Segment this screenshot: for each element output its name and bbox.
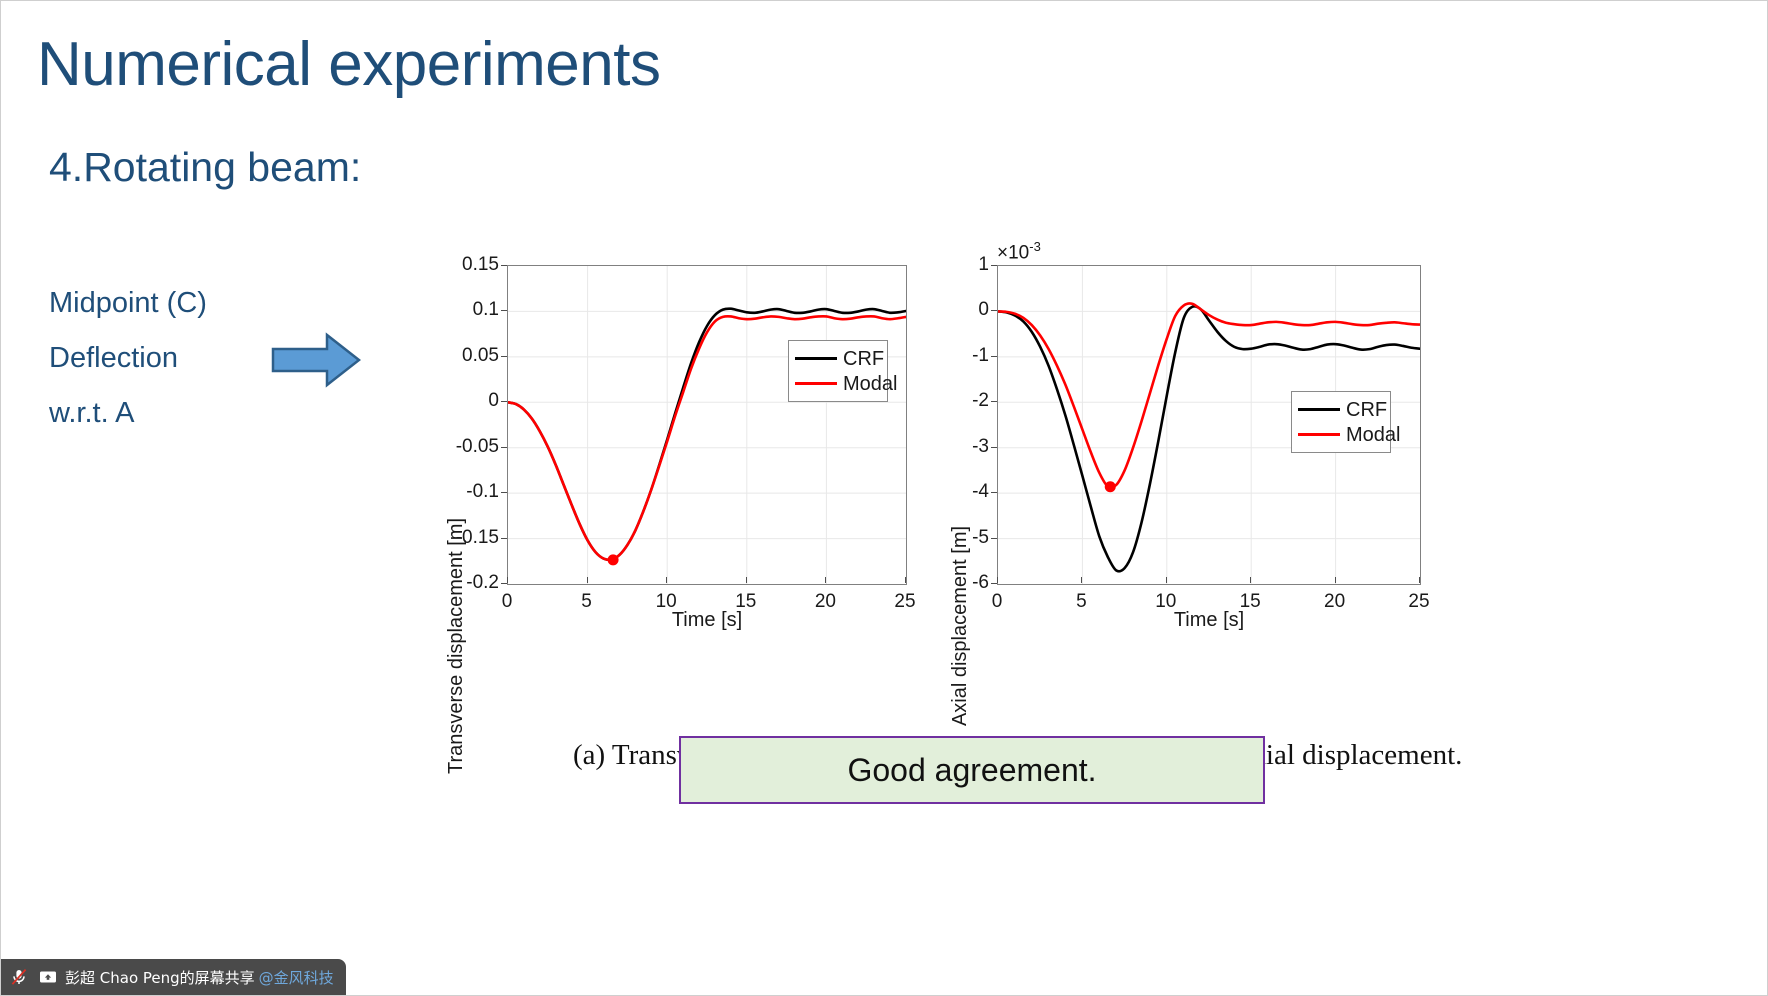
y-tick-label: 0 (437, 390, 499, 412)
chart-b-y-axis-label: Axial displacement [m] (949, 471, 972, 781)
x-tick-label: 20 (805, 591, 845, 613)
x-tick-label: 10 (1146, 591, 1186, 613)
right-arrow-icon (271, 331, 361, 389)
y-tick-mark (991, 447, 997, 448)
chart-a-canvas (508, 266, 906, 584)
legend-item-crf: CRF (795, 346, 879, 371)
legend-label-crf: CRF (843, 349, 884, 369)
x-tick-mark (825, 577, 826, 583)
page-title: Numerical experiments (37, 29, 661, 100)
x-tick-label: 15 (1230, 591, 1270, 613)
legend-item-crf: CRF (1298, 397, 1382, 422)
x-tick-mark (1335, 577, 1336, 583)
y-tick-label: -1 (927, 345, 989, 367)
x-tick-label: 25 (1399, 591, 1439, 613)
y-tick-mark (991, 401, 997, 402)
y-tick-label: 1 (927, 254, 989, 276)
x-tick-mark (666, 577, 667, 583)
x-tick-label: 0 (977, 591, 1017, 613)
legend-swatch-modal (1298, 433, 1340, 436)
y-tick-mark (501, 538, 507, 539)
legend-label-crf: CRF (1346, 400, 1387, 420)
legend-label-modal: Modal (1346, 425, 1400, 445)
legend-label-modal: Modal (843, 374, 897, 394)
x-tick-label: 20 (1315, 591, 1355, 613)
y-tick-label: 0 (927, 299, 989, 321)
y-tick-mark (991, 538, 997, 539)
x-tick-mark (746, 577, 747, 583)
share-owner-label: 彭超 Chao Peng的屏幕共享 (65, 967, 255, 988)
y-tick-mark (991, 492, 997, 493)
x-tick-mark (507, 577, 508, 583)
x-tick-label: 10 (646, 591, 686, 613)
screen-share-icon[interactable] (36, 965, 60, 989)
legend-item-modal: Modal (795, 371, 879, 396)
y-tick-label: -4 (927, 481, 989, 503)
callout-text: Good agreement. (847, 752, 1096, 789)
chart-transverse-displacement: Transverse displacement [m] Time [s] 0.1… (431, 251, 931, 651)
legend-swatch-crf (1298, 408, 1340, 411)
y-tick-mark (501, 356, 507, 357)
presentation-slide: Numerical experiments 4.Rotating beam: M… (0, 0, 1768, 996)
x-tick-label: 5 (1061, 591, 1101, 613)
y-tick-mark (991, 310, 997, 311)
x-tick-label: 0 (487, 591, 527, 613)
microphone-muted-icon[interactable] (7, 965, 31, 989)
x-tick-mark (1081, 577, 1082, 583)
x-tick-mark (997, 577, 998, 583)
x-tick-label: 5 (567, 591, 607, 613)
legend-swatch-modal (795, 382, 837, 385)
x-tick-mark (1250, 577, 1251, 583)
y-tick-mark (501, 583, 507, 584)
x-tick-mark (1166, 577, 1167, 583)
y-tick-label: 0.1 (437, 299, 499, 321)
section-subtitle: 4.Rotating beam: (49, 144, 361, 191)
y-tick-mark (501, 492, 507, 493)
chart-b-legend: CRF Modal (1291, 391, 1391, 453)
chart-a-legend: CRF Modal (788, 340, 888, 402)
x-tick-mark (905, 577, 906, 583)
legend-item-modal: Modal (1298, 422, 1382, 447)
y-tick-mark (501, 447, 507, 448)
y-tick-label: -3 (927, 436, 989, 458)
y-tick-mark (501, 265, 507, 266)
x-tick-label: 25 (885, 591, 925, 613)
bullet-midpoint: Midpoint (C) (49, 287, 207, 320)
bullet-deflection: Deflection (49, 342, 178, 375)
y-tick-mark (991, 583, 997, 584)
y-tick-mark (501, 310, 507, 311)
x-tick-mark (1419, 577, 1420, 583)
y-tick-label: 0.15 (437, 254, 499, 276)
screen-share-taskbar[interactable]: 彭超 Chao Peng的屏幕共享 @金风科技 (1, 959, 346, 995)
y-tick-mark (501, 401, 507, 402)
y-tick-label: -5 (927, 527, 989, 549)
x-tick-mark (587, 577, 588, 583)
y-tick-label: -0.1 (437, 481, 499, 503)
chart-b-y-exponent: ×10-3 (997, 239, 1041, 264)
y-tick-label: -0.05 (437, 436, 499, 458)
share-org-label: @金风科技 (259, 967, 334, 988)
y-tick-mark (991, 265, 997, 266)
y-tick-label: -2 (927, 390, 989, 412)
conclusion-callout: Good agreement. (679, 736, 1265, 804)
y-tick-mark (991, 356, 997, 357)
y-tick-label: -0.15 (437, 527, 499, 549)
legend-swatch-crf (795, 357, 837, 360)
bullet-wrt-a: w.r.t. A (49, 397, 134, 430)
y-tick-label: 0.05 (437, 345, 499, 367)
x-tick-label: 15 (726, 591, 766, 613)
